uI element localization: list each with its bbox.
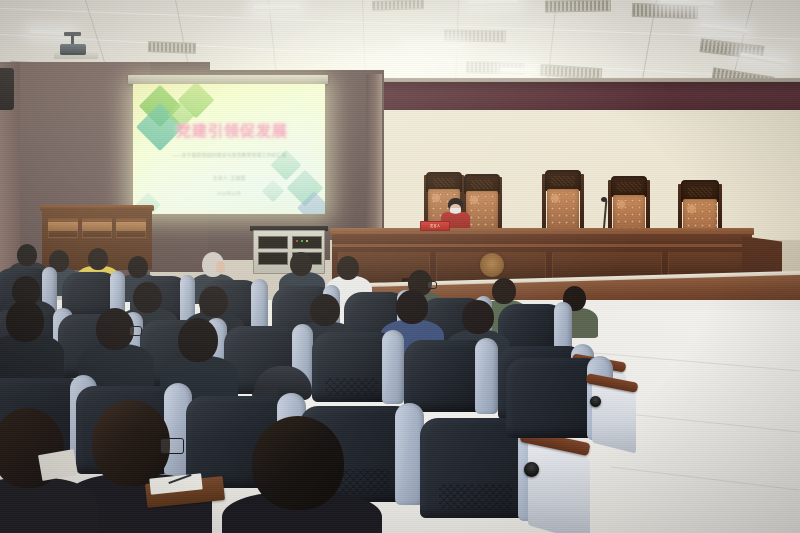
stage-chair-3 — [542, 170, 584, 232]
seat-edge — [382, 330, 404, 404]
ceiling-projector — [60, 44, 86, 55]
attendee-head — [199, 286, 228, 317]
attendee-head — [252, 416, 344, 510]
auditorium-seat[interactable] — [506, 358, 604, 438]
av-shelf — [292, 236, 322, 249]
recessed-strip-light — [408, 44, 460, 50]
attendee-head — [88, 248, 108, 270]
side-bench-seat — [82, 222, 112, 231]
attendee-head — [6, 300, 44, 342]
attendee-near — [168, 318, 228, 392]
auditorium-photo: 党建引领促发展 ——关于基层党组织建设与党员教育管理工作的汇报 主讲人: 王建国… — [0, 0, 800, 533]
seat-side-panel — [592, 383, 636, 454]
attendee-foreground-right — [236, 416, 362, 533]
wall-speaker — [0, 68, 14, 110]
bench-emblem — [480, 253, 504, 277]
attendee-head — [396, 290, 428, 324]
slide-presenter: 主讲人: 王建国 — [168, 175, 291, 182]
seat-edge — [251, 279, 267, 332]
microphone-head — [601, 197, 607, 202]
attendee-head-braided-hair — [92, 400, 170, 486]
attendee-head — [128, 256, 148, 278]
recessed-strip-light — [254, 5, 300, 11]
ceiling-vent — [545, 0, 611, 13]
wall-soffit-band — [378, 82, 800, 112]
av-led — [301, 240, 303, 242]
presenter-face-mask — [450, 208, 461, 213]
ceiling-vent — [148, 41, 196, 54]
speaker-name-plate: 发言人 — [420, 221, 450, 231]
glasses-icon — [427, 281, 437, 289]
chair-back-leather — [547, 189, 580, 232]
attendee-head — [17, 244, 37, 266]
av-led — [306, 240, 308, 242]
cup-holder — [590, 396, 601, 407]
chair-back-leather — [466, 191, 497, 232]
attendee-head — [310, 294, 340, 326]
slide-subtitle: ——关于基层党组织建设与党员教育管理工作的汇报 — [148, 152, 309, 159]
cup-holder — [524, 462, 539, 477]
av-shelf — [258, 236, 288, 249]
slide-date: 2018年12月 — [175, 191, 283, 197]
seat-mesh-pocket — [325, 378, 377, 396]
attendee-near — [0, 300, 54, 370]
attendee-head — [290, 252, 312, 276]
side-bench-seat — [48, 222, 78, 231]
attendee-head — [178, 318, 218, 362]
glasses-icon — [160, 438, 184, 454]
attendee-shoulders — [0, 334, 64, 382]
slide-title: 党建引领促发展 — [160, 120, 304, 141]
attendee-near — [86, 308, 144, 380]
side-bench-seat — [116, 222, 146, 231]
screen-housing — [128, 75, 328, 84]
ceiling-vent — [444, 29, 506, 42]
projection-screen: 党建引领促发展 ——关于基层党组织建设与党员教育管理工作的汇报 主讲人: 王建国… — [133, 84, 325, 214]
attendee-head — [462, 300, 494, 334]
bench-moulding — [332, 244, 752, 247]
av-led — [296, 240, 298, 242]
glasses-icon — [129, 326, 142, 336]
ceiling-vent — [372, 0, 424, 11]
attendee-face — [216, 261, 225, 273]
auditorium-seat[interactable] — [312, 332, 396, 402]
seat-mesh-pocket — [439, 484, 512, 510]
seat-edge — [475, 338, 497, 414]
auditorium-seat[interactable] — [404, 340, 490, 412]
attendee-head — [337, 256, 359, 280]
